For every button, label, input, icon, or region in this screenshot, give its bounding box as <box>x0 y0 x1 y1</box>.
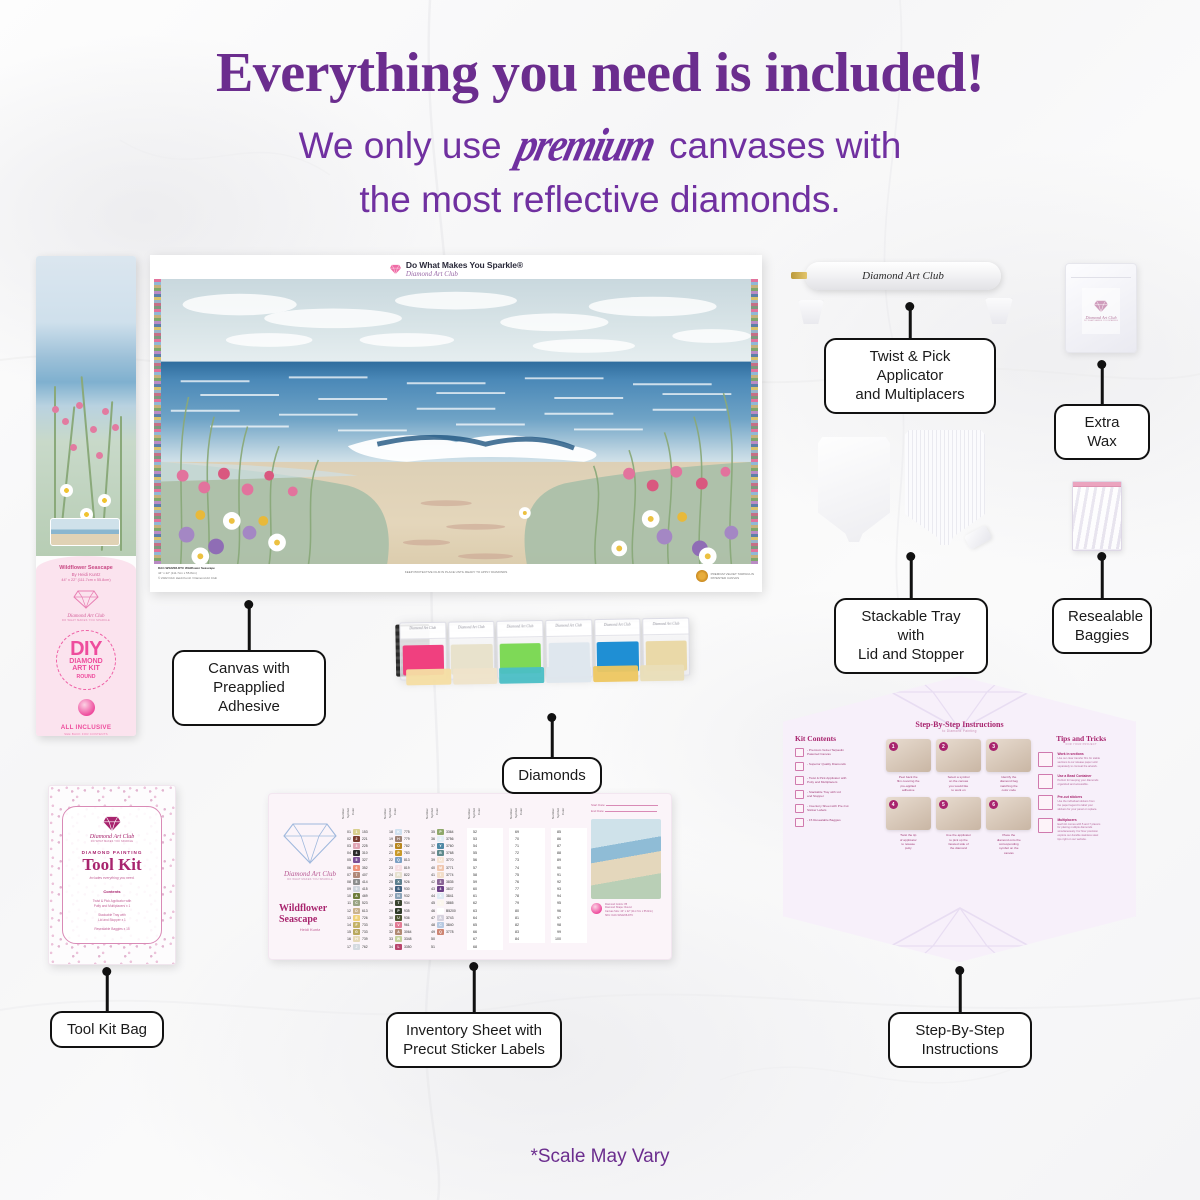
inventory-row-code: 819 <box>404 866 419 870</box>
inventory-row-symbol <box>479 872 486 878</box>
canvas-foot-copyright: © 2022 DAC Heidi Kuntz / Diamond Art Clu… <box>158 576 217 581</box>
quality-seal-icon <box>696 570 708 582</box>
inventory-row: 95 <box>551 900 587 907</box>
tip-title: Use a Bead Container <box>1057 774 1098 778</box>
diy-brand-tagline: DO WHAT MAKES YOU SPARKLE <box>36 619 136 622</box>
inventory-color-tables: Number Symbol Color 01115302222103322504… <box>341 802 587 951</box>
inventory-row: 93 <box>551 886 587 893</box>
inventory-column-2: Number Symbol Color 18K77519H77920O78221… <box>383 808 419 951</box>
pen-tip-icon <box>791 272 807 279</box>
inventory-row-symbol <box>563 886 570 892</box>
inventory-row-code: 3840 <box>446 923 461 927</box>
inventory-row-symbol: 4 <box>437 886 444 892</box>
inventory-row-number: 39 <box>425 858 435 862</box>
inventory-row-symbol: I <box>437 872 444 878</box>
inventory-row-number: 24 <box>383 873 393 877</box>
inventory-row-symbol: W <box>395 936 402 942</box>
inventory-row-symbol: A <box>395 929 402 935</box>
inventory-row-symbol: S <box>395 886 402 892</box>
diy-kit-box-product: Wildflower Seascape By Heidi Kuntz 44" x… <box>36 256 136 736</box>
inventory-col-header: Color <box>351 808 355 828</box>
inventory-row-number: 92 <box>551 880 561 884</box>
inventory-row-symbol <box>521 936 528 942</box>
inventory-row-number: 26 <box>383 887 393 891</box>
inventory-row-symbol <box>563 872 570 878</box>
inventory-row-symbol <box>563 879 570 885</box>
inventory-row: 13E726 <box>341 914 377 921</box>
inventory-row: 60 <box>467 886 503 893</box>
inventory-row-number: 57 <box>467 866 477 870</box>
canvas-footer: DAC-WS2208-DTC Wildflower Seascape 44" x… <box>154 564 758 588</box>
inventory-row: 29P935 <box>383 907 419 914</box>
callout-applicator-label[interactable]: Twist & Pick Applicator and Multiplacers <box>824 338 996 414</box>
inventory-row-number: 89 <box>551 858 561 862</box>
toolkit-title: Tool Kit <box>63 856 161 873</box>
inventory-row-code: 3756 <box>446 837 461 841</box>
inventory-row: 68 <box>467 943 503 950</box>
inventory-row: 94 <box>551 893 587 900</box>
instruction-step: 5 Use the applicator to pick up the face… <box>936 797 981 855</box>
tip-body: Perfect for keeping your diamonds organi… <box>1057 779 1098 787</box>
inventory-row-symbol <box>521 843 528 849</box>
subtitle-part-2: canvases with <box>669 125 901 166</box>
inventory-row: 51 <box>425 943 461 950</box>
inventory-row-number: 45 <box>425 901 435 905</box>
inventory-row: 52 <box>467 828 503 835</box>
step-number: 3 <box>989 742 998 751</box>
inventory-row: 100 <box>551 936 587 943</box>
kit-content-item: - Premium Velvet Tarpaulin Patented Canv… <box>807 748 844 757</box>
inventory-col-header: Color <box>477 808 481 828</box>
callout-toolkit-label[interactable]: Tool Kit Bag <box>50 1011 164 1048</box>
inventory-row-number: 28 <box>383 901 393 905</box>
inventory-row-number: 94 <box>551 894 561 898</box>
inventory-row-number: 13 <box>341 916 351 920</box>
subtitle-premium-word: premium <box>509 112 661 179</box>
resealable-baggie <box>1072 481 1122 551</box>
start-date-line[interactable] <box>606 805 658 806</box>
inventory-row-symbol: T <box>395 900 402 906</box>
inventory-col-header: Color <box>519 808 523 828</box>
inventory-row-symbol: Y <box>437 843 444 849</box>
inventory-row-number: 83 <box>509 930 519 934</box>
inventory-row: 96 <box>551 907 587 914</box>
inventory-row: 4343837 <box>425 886 461 893</box>
end-date-line[interactable] <box>605 811 657 812</box>
inventory-row-number: 22 <box>383 858 393 862</box>
kit-content-item: - Superior Quality Diamonds <box>807 762 846 766</box>
diy-badge-round: ROUND <box>76 674 95 680</box>
inventory-row-code: 932 <box>404 894 419 898</box>
toolkit-content-item: Stackable Tray with Lid and Stopper x 1 <box>63 913 161 922</box>
inventory-col-header: Color <box>561 808 565 828</box>
callout-inventory[interactable]: Inventory Sheet with Precut Sticker Labe… <box>386 1012 562 1068</box>
step-number: 4 <box>889 800 898 809</box>
inventory-row-symbol: A <box>353 893 360 899</box>
inventory-col-header: Symbol <box>388 808 392 828</box>
inventory-row: 73 <box>509 857 545 864</box>
canvas-slogan: Do What Makes You Sparkle® <box>406 260 523 270</box>
inventory-row-symbol <box>521 908 528 914</box>
inventory-row-number: 66 <box>467 930 477 934</box>
diamond-bag-brand: Diamond Art Club <box>400 626 445 631</box>
inventory-row-symbol: P <box>395 850 402 856</box>
callout-baggies[interactable]: Resealable Baggies <box>1052 598 1152 654</box>
inventory-col-header: Color <box>435 808 439 828</box>
callout-toolkit[interactable]: Tool Kit Bag <box>50 1011 164 1048</box>
callout-canvas-label[interactable]: Canvas with Preapplied Adhesive <box>172 650 326 726</box>
multiplacer-icon <box>1038 818 1053 833</box>
inventory-row-symbol <box>563 915 570 921</box>
inventory-row-code: 936 <box>404 916 419 920</box>
header: Everything you need is included! We only… <box>0 44 1200 226</box>
inventory-row-number: 69 <box>509 830 519 834</box>
inventory-row: 10A469 <box>341 893 377 900</box>
inventory-row: 55 <box>467 850 503 857</box>
inventory-row-symbol <box>563 936 570 942</box>
inventory-column-1: Number Symbol Color 01115302222103322504… <box>341 808 377 951</box>
inventory-row: 91 <box>551 871 587 878</box>
inventory-row-number: 11 <box>341 901 351 905</box>
diy-badge-diamond: DIAMOND <box>69 658 102 666</box>
step-text: Use the applicator to pick up the facete… <box>936 833 981 850</box>
inventory-row-symbol <box>479 886 486 892</box>
inventory-row-number: 09 <box>341 887 351 891</box>
inventory-row-number: 99 <box>551 930 561 934</box>
step-number: 1 <box>889 742 898 751</box>
callout-diamonds-label[interactable]: Diamonds <box>502 757 602 794</box>
inventory-row-symbol <box>521 929 528 935</box>
inventory-row-number: 21 <box>383 851 393 855</box>
inventory-row-symbol <box>521 879 528 885</box>
inventory-row-symbol <box>563 865 570 871</box>
inventory-row: 69 <box>509 828 545 835</box>
inventory-row-symbol <box>521 922 528 928</box>
inventory-row-number: 60 <box>467 887 477 891</box>
instructions-steps: 1 Peel back the film covering the pre-ap… <box>886 734 1032 855</box>
tip-body: Use our clear transfer film for stable s… <box>1057 757 1100 768</box>
inventory-row-symbol <box>479 936 486 942</box>
inventory-row-symbol: 1 <box>353 829 360 835</box>
inventory-row-number: 67 <box>467 937 477 941</box>
inventory-row-code: 3771 <box>446 866 461 870</box>
canvas-brand: Diamond Art Club <box>406 270 523 278</box>
inventory-row: 12D613 <box>341 907 377 914</box>
inventory-row-number: 37 <box>425 844 435 848</box>
inventory-row-number: 05 <box>341 858 351 862</box>
inventory-row-code: 733 <box>362 930 377 934</box>
diy-badge: DIY DIAMOND ART KIT ROUND <box>56 630 116 690</box>
pen-brand-text: Diamond Art Club <box>862 270 944 282</box>
inventory-row-symbol: 9 <box>353 886 360 892</box>
inventory-row: 97 <box>551 914 587 921</box>
inventory-row-number: 30 <box>383 916 393 920</box>
inventory-row-symbol <box>521 850 528 856</box>
inventory-row-symbol: J <box>395 865 402 871</box>
canvas-color-key-right <box>751 279 758 564</box>
diamond-icon <box>1093 300 1109 313</box>
inventory-row-symbol: 6 <box>353 865 360 871</box>
inventory-row: 82 <box>509 921 545 928</box>
extra-wax-pouch: Diamond Art Club DO WHAT MAKES YOU SPARK… <box>1065 263 1137 353</box>
inventory-row-number: 84 <box>509 937 519 941</box>
inventory-row-code: 225 <box>362 844 377 848</box>
inventory-row-symbol: B <box>437 850 444 856</box>
inventory-row: 89 <box>551 857 587 864</box>
inventory-row-symbol <box>479 944 486 950</box>
inventory-row-symbol: 3 <box>437 879 444 885</box>
inventory-row-number: 70 <box>509 837 519 841</box>
inventory-row-code: 3770 <box>446 858 461 862</box>
inventory-row-code: 3774 <box>446 873 461 877</box>
inventory-row-number: 29 <box>383 909 393 913</box>
inventory-row-symbol: 2 <box>353 836 360 842</box>
inventory-row: 16H739 <box>341 936 377 943</box>
inventory-row-code: 783 <box>404 851 419 855</box>
inventory-row-symbol <box>563 900 570 906</box>
inventory-artist: Heidi Kuntz <box>300 927 320 932</box>
inventory-row: 57 <box>467 864 503 871</box>
inventory-row-code: 762 <box>362 945 377 949</box>
callout-wax[interactable]: Extra Wax <box>1054 404 1150 460</box>
inventory-row: 30U936 <box>383 914 419 921</box>
inventory-row-number: 87 <box>551 844 561 848</box>
inventory-col-header: Symbol <box>346 808 350 828</box>
inventory-row: 61 <box>467 893 503 900</box>
inventory-row: 21P783 <box>383 850 419 857</box>
inventory-row-symbol: Q <box>395 857 402 863</box>
inventory-row-code: 739 <box>362 937 377 941</box>
inventory-row-number: 64 <box>467 916 477 920</box>
scale-disclaimer: *Scale May Vary <box>0 1146 1200 1168</box>
inventory-row-symbol <box>479 850 486 856</box>
inventory-row-number: 06 <box>341 866 351 870</box>
inventory-row-code: 3835 <box>446 880 461 884</box>
inventory-row-symbol <box>521 900 528 906</box>
inventory-row-symbol: C <box>353 900 360 906</box>
inventory-row-code: 3064 <box>404 930 419 934</box>
tips-subheading: FOR YOUR PROJECT <box>1038 743 1124 746</box>
inventory-row-number: 44 <box>425 894 435 898</box>
inventory-row-number: 10 <box>341 894 351 898</box>
inventory-row-symbol <box>479 908 486 914</box>
inventory-row-code: 3841 <box>446 894 461 898</box>
inventory-row: 62 <box>467 900 503 907</box>
diamond-bag-brand: Diamond Art Club <box>546 623 591 628</box>
inventory-sheet-product: Diamond Art Club DO WHAT MAKES YOU SPARK… <box>268 793 672 960</box>
inventory-row: 022221 <box>341 835 377 842</box>
inventory-row-number: 96 <box>551 909 561 913</box>
inventory-row-symbol <box>521 829 528 835</box>
inventory-row-code: 3768 <box>446 851 461 855</box>
inventory-row-symbol: X <box>395 879 402 885</box>
inventory-row-symbol: D <box>353 908 360 914</box>
inventory-row-symbol: X <box>437 893 444 899</box>
callout-applicator[interactable]: Twist & Pick Applicator and Multiplacers <box>824 338 996 414</box>
inventory-row-number: 04 <box>341 851 351 855</box>
inventory-row-symbol: L <box>395 944 402 950</box>
inventory-brand-tagline: DO WHAT MAKES YOU SPARKLE <box>287 878 333 881</box>
inventory-col-header: Number <box>467 808 471 828</box>
inventory-row-number: 56 <box>467 858 477 862</box>
inventory-row-symbol <box>563 922 570 928</box>
subtitle-line-2: the most reflective diamonds. <box>0 174 1200 227</box>
inventory-row-symbol <box>521 836 528 842</box>
diamond-icon <box>102 816 122 832</box>
inventory-row-code: 523 <box>362 901 377 905</box>
inventory-row-code: 726 <box>362 916 377 920</box>
inventory-row-symbol <box>437 936 444 942</box>
inventory-row-code: 3760 <box>446 844 461 848</box>
inventory-row-number: 07 <box>341 873 351 877</box>
stickers-icon <box>1038 795 1053 810</box>
inventory-row-number: 25 <box>383 880 393 884</box>
inventory-row-symbol: 4 <box>353 850 360 856</box>
inventory-row: 40M3771 <box>425 864 461 871</box>
inventory-row: 044310 <box>341 850 377 857</box>
step-text: Select a symbol on the canvas you would … <box>936 775 981 792</box>
inventory-row: 98 <box>551 921 587 928</box>
callout-canvas[interactable]: Canvas with Preapplied Adhesive <box>172 650 326 726</box>
inventory-row: 76 <box>509 878 545 885</box>
inventory-row: 78 <box>509 893 545 900</box>
inventory-row: 85 <box>551 828 587 835</box>
inventory-row: 31V961 <box>383 921 419 928</box>
inventory-row-number: 51 <box>425 945 435 949</box>
inventory-row: 055327 <box>341 857 377 864</box>
inventory-row-symbol: H <box>353 936 360 942</box>
inventory-row: 70 <box>509 835 545 842</box>
diy-box-artwork-thumbnail <box>50 518 120 546</box>
inventory-row: 11C523 <box>341 900 377 907</box>
baggie-body <box>1073 487 1121 549</box>
tool-kit-bag-product: Diamond Art Club DO WHAT MAKES YOU SPARK… <box>48 785 176 965</box>
callout-instructions[interactable]: Step-By-Step Instructions <box>888 1012 1032 1068</box>
canvas-foot-code: DAC-WS2208-DTC Wildflower Seascape <box>158 566 215 570</box>
tips-heading: Tips and Tricks <box>1038 734 1124 743</box>
inventory-row-number: 95 <box>551 901 561 905</box>
inventory-col-header: Number <box>509 808 513 828</box>
tray-icon <box>795 790 804 799</box>
callout-wax-label[interactable]: Extra Wax <box>1054 404 1150 460</box>
inventory-row-number: 90 <box>551 866 561 870</box>
inventory-row: 81 <box>509 914 545 921</box>
callout-instructions-label[interactable]: Step-By-Step Instructions <box>888 1012 1032 1068</box>
inventory-row-number: 48 <box>425 923 435 927</box>
inventory-row-symbol <box>479 836 486 842</box>
inventory-row-symbol: Z <box>437 836 444 842</box>
inventory-row: 4233835 <box>425 878 461 885</box>
inventory-row-code: 782 <box>404 844 419 848</box>
inventory-row-number: 43 <box>425 887 435 891</box>
inventory-row: 27N932 <box>383 893 419 900</box>
step-number: 6 <box>989 800 998 809</box>
baggies-icon <box>795 818 804 827</box>
inventory-row-symbol: • <box>437 900 444 906</box>
callout-diamonds[interactable]: Diamonds <box>502 757 602 794</box>
inventory-row-symbol: U <box>395 915 402 921</box>
inventory-row: 15G733 <box>341 929 377 936</box>
inventory-row-number: 15 <box>341 930 351 934</box>
inventory-artwork-preview <box>591 819 661 899</box>
inventory-row-number: 41 <box>425 873 435 877</box>
inventory-row: 67 <box>467 936 503 943</box>
toolkit-subtitle: Includes everything you need. <box>63 876 161 880</box>
inventory-row-number: 72 <box>509 851 519 855</box>
pouch-zip-icon <box>1071 271 1131 278</box>
inventory-row-symbol <box>479 900 486 906</box>
inventory-col-header: Number <box>425 808 429 828</box>
inventory-column-3: Number Symbol Color 35P336436Z375637Y376… <box>425 808 461 951</box>
inventory-row-number: 32 <box>383 930 393 934</box>
inventory-row: 71 <box>509 842 545 849</box>
inventory-row: 45•3865 <box>425 900 461 907</box>
inventory-row-number: 01 <box>341 830 351 834</box>
inventory-row: 44X3841 <box>425 893 461 900</box>
diy-badge-artkit: ART KIT <box>72 665 100 673</box>
inventory-row-number: 58 <box>467 873 477 877</box>
diy-box-artwork <box>36 256 136 556</box>
inventory-row: 88 <box>551 850 587 857</box>
step-text: Identify the diamond bag matching the co… <box>986 775 1031 792</box>
diamond-icon <box>389 264 402 275</box>
tip-body: Each kit comes with 5 and 7 placers for … <box>1057 823 1100 842</box>
toolkit-contents-heading: Contents <box>63 889 161 894</box>
inventory-row-code: 3837 <box>446 887 461 891</box>
inventory-row-code: 930 <box>404 887 419 891</box>
inventory-row-code: 813 <box>404 858 419 862</box>
inventory-row-symbol: M <box>437 865 444 871</box>
callout-baggies-label[interactable]: Resealable Baggies <box>1052 598 1152 654</box>
tip-body: Use the individual stickers from the pap… <box>1057 800 1097 811</box>
applicator-icon <box>795 776 804 785</box>
step-text: Peel back the film covering the pre-appl… <box>886 775 931 792</box>
inventory-row: 80 <box>509 907 545 914</box>
inventory-row: 17J762 <box>341 943 377 950</box>
inventory-row-number: 100 <box>551 937 561 941</box>
callout-inventory-label[interactable]: Inventory Sheet with Precut Sticker Labe… <box>386 1012 562 1068</box>
subtitle-part-1: We only use <box>299 125 502 166</box>
inventory-row-symbol <box>563 929 570 935</box>
inventory-row-symbol: U <box>437 857 444 863</box>
callout-tray[interactable]: Stackable Tray with Lid and Stopper <box>834 598 988 674</box>
inventory-row-symbol <box>479 857 486 863</box>
inventory-col-header: Symbol <box>514 808 518 828</box>
inventory-row: 63 <box>467 907 503 914</box>
callout-tray-label[interactable]: Stackable Tray with Lid and Stopper <box>834 598 988 674</box>
canvas-foot-material: PREMIUM VELVET TARPAULIN PATENTED CANVAS <box>711 572 754 580</box>
toolkit-content-item: Resealable Baggies x 15 <box>63 927 161 932</box>
inventory-row-symbol <box>479 929 486 935</box>
inventory-row-number: 86 <box>551 837 561 841</box>
inventory-row-number: 80 <box>509 909 519 913</box>
diy-kit-size: 44" x 22" (111.7cm x 55.8cm) <box>36 578 136 582</box>
inventory-row-symbol <box>479 865 486 871</box>
round-drill-icon <box>78 699 95 716</box>
tip-title: Work in sections <box>1057 752 1100 756</box>
inventory-row-number: 36 <box>425 837 435 841</box>
inventory-row-number: 18 <box>383 830 393 834</box>
inventory-sheet-icon <box>795 804 804 813</box>
inventory-row-code: 310 <box>362 851 377 855</box>
instruction-step: 6 Place the diamond onto the correspondi… <box>986 797 1031 855</box>
inventory-col-header: Symbol <box>556 808 560 828</box>
inventory-row-symbol <box>521 872 528 878</box>
inventory-row: 22Q813 <box>383 857 419 864</box>
inventory-row-symbol: 5 <box>353 857 360 863</box>
inventory-brand-name: Diamond Art Club <box>284 870 336 878</box>
inventory-col-header: Number <box>551 808 555 828</box>
